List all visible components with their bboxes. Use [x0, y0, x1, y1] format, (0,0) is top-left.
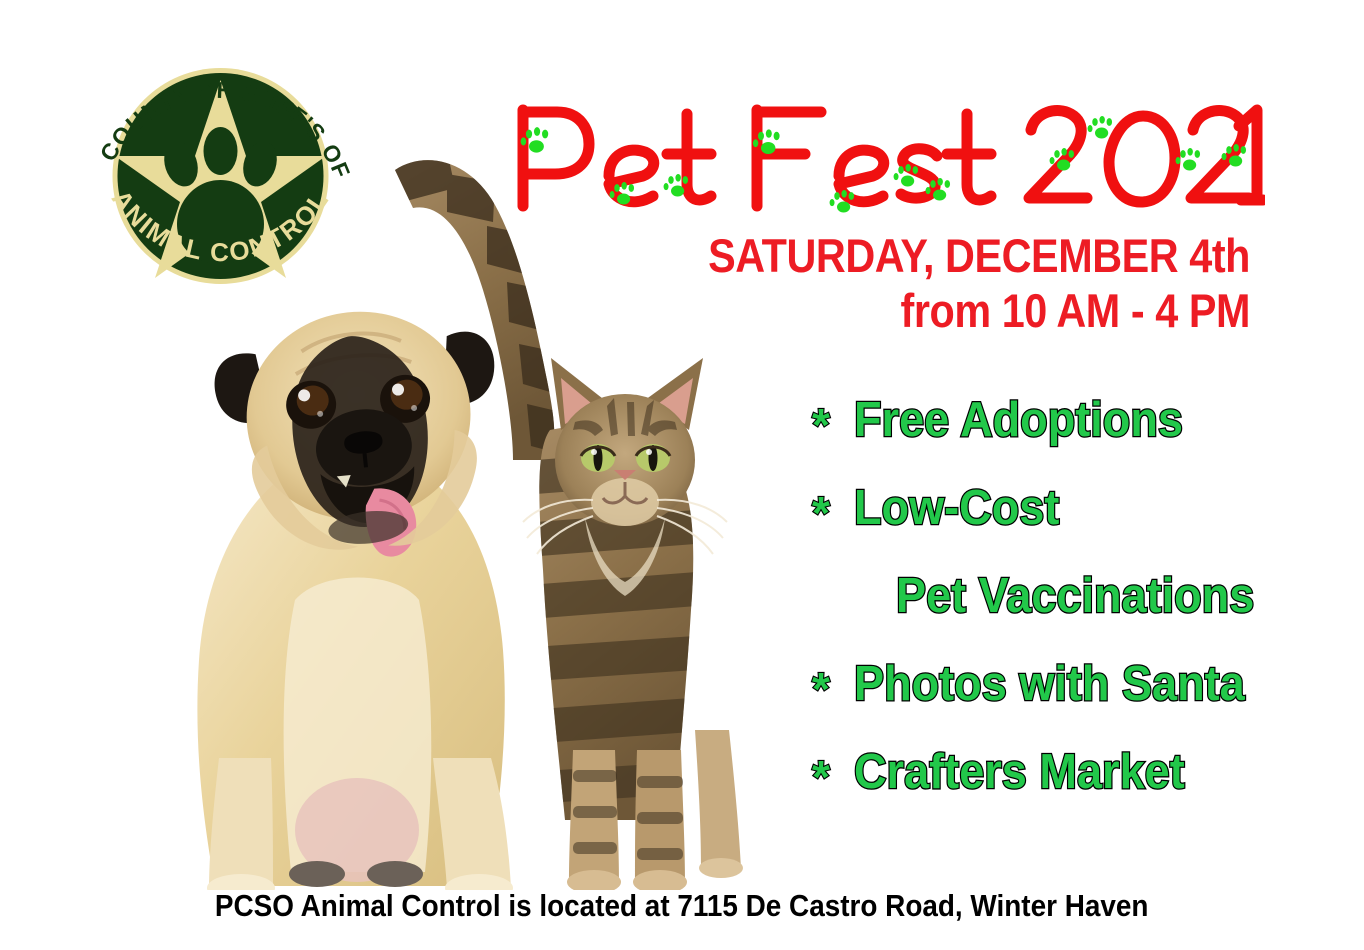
asterisk-bullet-icon: *	[812, 754, 830, 800]
feature-label: Free Adoptions	[854, 392, 1183, 448]
event-title	[505, 92, 1265, 222]
feature-label: Photos with Santa	[854, 656, 1245, 712]
list-item: * Crafters Market	[812, 744, 1282, 832]
feature-label: Pet Vaccinations	[896, 568, 1254, 624]
event-time: from 10 AM - 4 PM	[687, 287, 1250, 334]
event-date-block: SATURDAY, DECEMBER 4th from 10 AM - 4 PM	[610, 232, 1250, 334]
pet-fest-flyer: POLK COUNTY SHERIFF'S OFFICE ANIMAL CONT…	[0, 0, 1364, 950]
list-item: * Photos with Santa	[812, 656, 1282, 744]
asterisk-bullet-icon: *	[812, 666, 830, 712]
feature-list: * Free Adoptions * Low-Cost Pet Vaccinat…	[812, 392, 1282, 832]
list-item: * Free Adoptions	[812, 392, 1282, 480]
list-item: * Low-Cost	[812, 480, 1282, 568]
tabby-cat	[523, 358, 743, 890]
event-date: SATURDAY, DECEMBER 4th	[687, 232, 1250, 279]
asterisk-bullet-icon: *	[812, 490, 830, 536]
feature-label: Low-Cost	[854, 480, 1059, 536]
title-letters	[523, 110, 1263, 206]
list-item-continuation: Pet Vaccinations	[812, 568, 1282, 656]
location-footer: PCSO Animal Control is located at 7115 D…	[0, 888, 1364, 924]
feature-label: Crafters Market	[854, 744, 1185, 800]
asterisk-bullet-icon: *	[812, 402, 830, 448]
pug-dog	[197, 298, 513, 890]
location-text: PCSO Animal Control is located at 7115 D…	[215, 888, 1149, 924]
